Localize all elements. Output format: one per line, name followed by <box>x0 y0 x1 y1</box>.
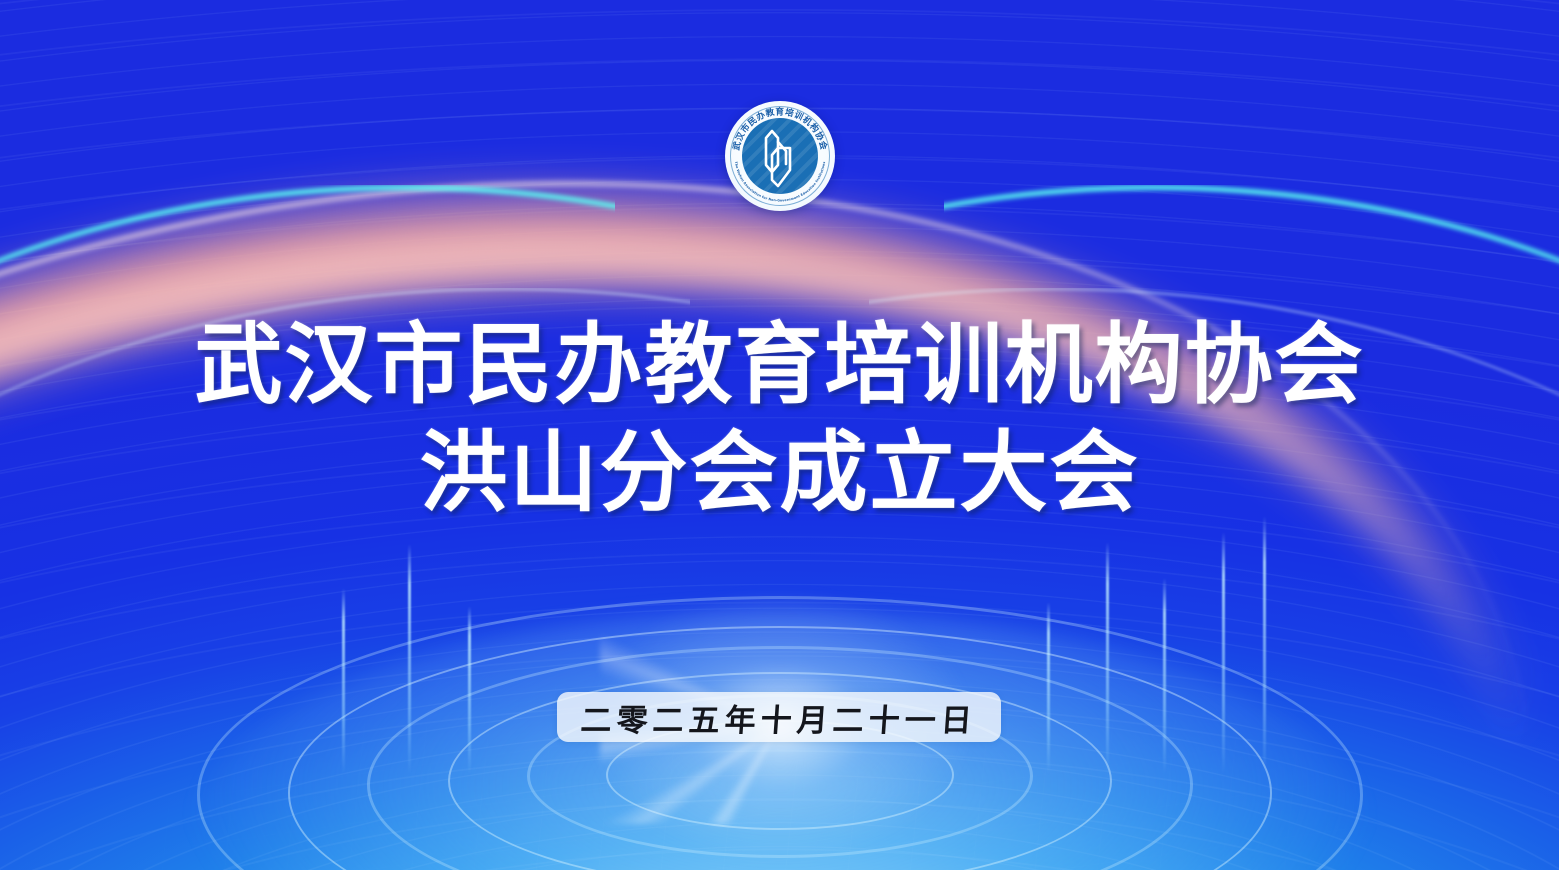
logo-figure-icon <box>742 118 818 194</box>
title-line-1: 武汉市民办教育培训机构协会 <box>0 312 1559 416</box>
title-line-2: 洪山分会成立大会 <box>0 420 1559 524</box>
date-badge: 二零二五年十月二十一日 <box>557 692 1001 742</box>
date-text: 二零二五年十月二十一日 <box>579 695 978 740</box>
association-logo: 武汉市民办教育培训机构协会 The Wuhan Association for … <box>725 101 835 211</box>
event-poster: 武汉市民办教育培训机构协会 The Wuhan Association for … <box>0 0 1559 870</box>
page-title: 武汉市民办教育培训机构协会 洪山分会成立大会 <box>0 312 1559 524</box>
logo-inner-disc <box>742 118 818 194</box>
